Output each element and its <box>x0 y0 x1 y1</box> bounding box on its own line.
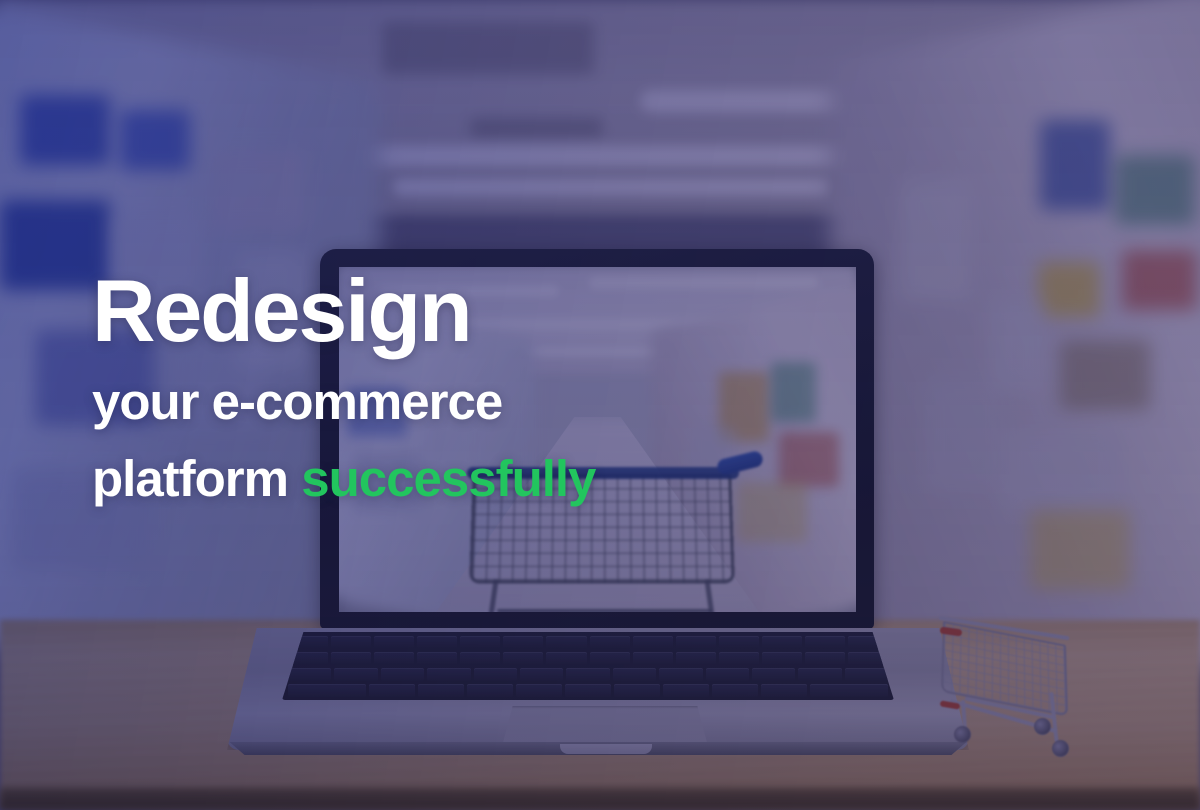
headline-line-2: your e-commerce <box>92 376 852 427</box>
headline-block: Redesign your e-commerce platformsuccess… <box>92 268 852 504</box>
headline-line-3-plain: platform <box>92 450 288 507</box>
hero-banner: Redesign your e-commerce platformsuccess… <box>0 0 1200 810</box>
headline-line-3: platformsuccessfully <box>92 453 852 504</box>
headline-line-1: Redesign <box>92 268 852 354</box>
headline-accent-word: successfully <box>301 450 595 507</box>
